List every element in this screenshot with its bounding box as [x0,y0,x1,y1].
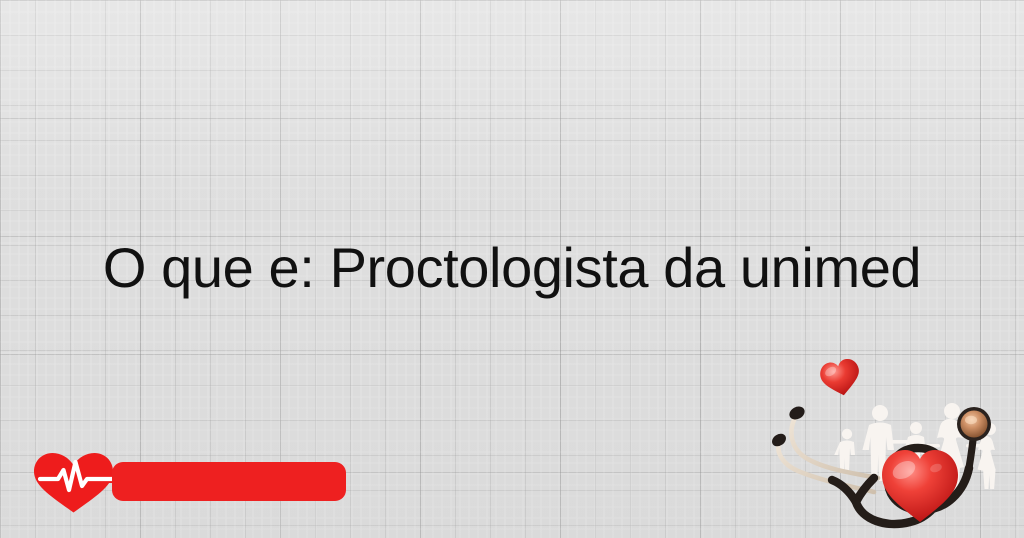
slide-canvas: O que e: Proctologista da unimed COREUS … [0,0,1024,538]
brand-logo[interactable]: COREUS SAÚDE [28,448,353,514]
stethoscope-eartips [770,404,807,449]
family-health-stethoscope-illustration [770,352,1024,538]
small-heart-icon [818,357,863,399]
stethoscope-chestpiece-icon [957,407,991,441]
family-figure-child-left [834,429,855,472]
brand-badge [112,462,346,501]
large-heart-icon [882,450,958,522]
page-title: O que e: Proctologista da unimed [0,236,1024,300]
